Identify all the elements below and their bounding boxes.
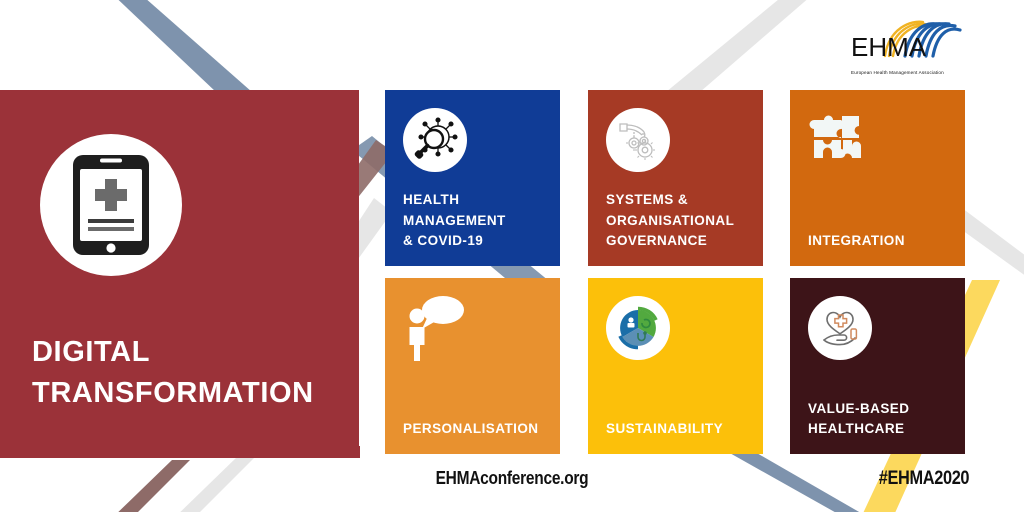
tile-label-line: SYSTEMS & — [606, 190, 753, 211]
person-bubble-icon-wrap — [399, 292, 471, 364]
stripe-slate-topleft — [108, 0, 252, 92]
tile-label-line: & COVID-19 — [403, 231, 550, 252]
ehma-logo-mark: EHMA — [849, 18, 969, 64]
ehma-logo: EHMA European Health Management Associat… — [849, 18, 969, 75]
conference-hashtag: #EHMA2020 — [879, 468, 969, 490]
tile-label-line: VALUE-BASED — [808, 399, 955, 420]
hero-title: DIGITAL TRANSFORMATION — [32, 332, 314, 414]
tile-label-line: HEALTH — [403, 190, 550, 211]
tile-value-based-healthcare[interactable]: VALUE-BASED HEALTHCARE — [790, 278, 965, 454]
tile-label-sustainability: SUSTAINABILITY — [606, 419, 753, 440]
recycle-pie-chart-icon — [613, 303, 663, 353]
hand-heart-cross-icon — [815, 303, 865, 353]
tile-label-line: HEALTHCARE — [808, 419, 955, 440]
hero-title-line-1: DIGITAL — [32, 332, 314, 373]
virus-magnifier-icon-circle — [403, 108, 467, 172]
tile-personalisation[interactable]: PERSONALISATION — [385, 278, 560, 454]
ehma-logo-subtitle: European Health Management Association — [851, 70, 969, 75]
tile-label-line: ORGANISATIONAL — [606, 211, 753, 232]
tile-label-line: MANAGEMENT — [403, 211, 550, 232]
hand-heart-icon-circle — [808, 296, 872, 360]
tile-integration[interactable]: INTEGRATION — [790, 90, 965, 266]
tile-label-health-management-covid: HEALTH MANAGEMENT & COVID-19 — [403, 190, 550, 252]
hero-title-line-2: TRANSFORMATION — [32, 373, 314, 414]
puzzle-icon-wrap — [806, 104, 876, 174]
tile-label-systems-organisational-governance: SYSTEMS & ORGANISATIONAL GOVERNANCE — [606, 190, 753, 252]
sustainability-icon-circle — [606, 296, 670, 360]
hand-gears-icon — [614, 116, 662, 164]
conference-url[interactable]: EHMAconference.org — [72, 468, 953, 489]
person-speech-bubble-icon — [401, 294, 469, 362]
tile-label-line: INTEGRATION — [808, 231, 955, 252]
tile-label-line: SUSTAINABILITY — [606, 419, 753, 440]
stripe-gray-topright — [666, 0, 818, 92]
puzzle-pieces-icon — [808, 106, 874, 172]
tile-label-value-based-healthcare: VALUE-BASED HEALTHCARE — [808, 399, 955, 440]
hero-icon-circle — [40, 134, 182, 276]
ehma-logo-wordmark: EHMA — [851, 32, 927, 62]
tile-health-management-covid[interactable]: HEALTH MANAGEMENT & COVID-19 — [385, 90, 560, 266]
tile-sustainability[interactable]: SUSTAINABILITY — [588, 278, 763, 454]
conference-url-text: EHMAconference.org — [436, 468, 589, 489]
hand-gears-icon-circle — [606, 108, 670, 172]
virus-magnifier-icon — [410, 115, 460, 165]
tile-label-line: PERSONALISATION — [403, 419, 550, 440]
stripe-gray-right — [962, 208, 1024, 282]
hero-panel-digital-transformation[interactable]: DIGITAL TRANSFORMATION — [0, 90, 359, 458]
tile-label-integration: INTEGRATION — [808, 231, 955, 252]
smartphone-medical-icon — [71, 153, 151, 257]
tile-label-line: GOVERNANCE — [606, 231, 753, 252]
tile-label-personalisation: PERSONALISATION — [403, 419, 550, 440]
tile-systems-organisational-governance[interactable]: SYSTEMS & ORGANISATIONAL GOVERNANCE — [588, 90, 763, 266]
